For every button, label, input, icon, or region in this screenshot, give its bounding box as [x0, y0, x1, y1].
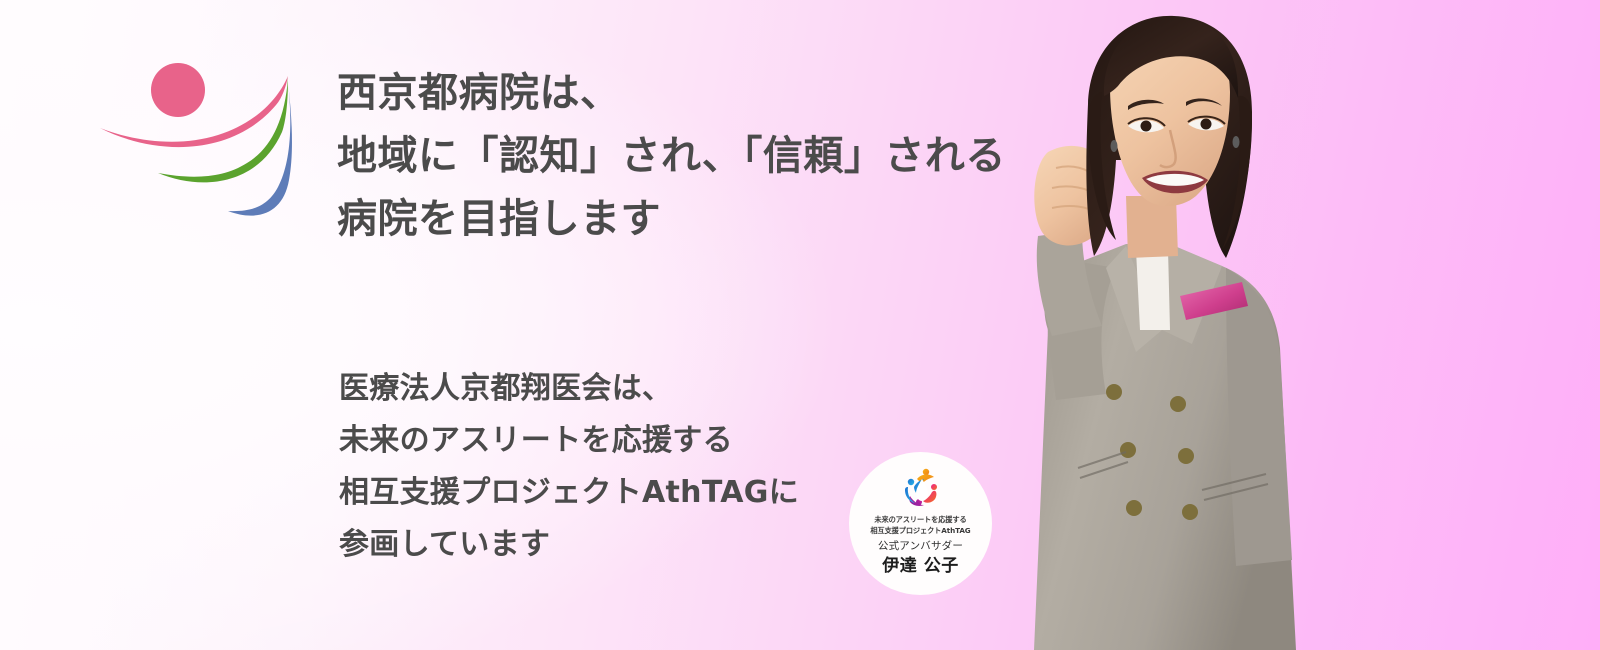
jacket-body: [1034, 244, 1296, 650]
logo-blue-swoosh: [228, 82, 292, 216]
logo-head-circle: [151, 63, 205, 117]
headline-line-2: 地域に「認知」され、「信頼」される: [337, 125, 1037, 188]
jacket-forearm-raised: [1037, 230, 1102, 336]
jacket-sleeve-right: [1226, 268, 1292, 566]
jacket-lapel-right: [1162, 244, 1222, 344]
hospital-logo-icon: [100, 52, 315, 252]
hero-banner: 西京都病院は、 地域に「認知」され、「信頼」される 病院を目指します 医療法人京…: [0, 0, 1600, 650]
nose: [1160, 130, 1176, 167]
headline-line-3: 病院を目指します: [337, 188, 1037, 251]
hair-back: [1086, 16, 1252, 258]
badge-person-name: 伊達 公子: [882, 556, 958, 576]
jacket-lapel-left: [1106, 246, 1162, 352]
jacket-buttons: [1106, 384, 1198, 520]
body-copy-line-1: 医療法人京都翔医会は、: [339, 363, 899, 415]
hair-side-left: [1088, 92, 1116, 240]
pocket-square: [1180, 282, 1248, 320]
hair-side-right: [1222, 96, 1252, 250]
body-copy-line-3: 相互支援プロジェクトAthTAGに: [339, 467, 899, 519]
badge-role: 公式アンバサダー: [878, 536, 963, 556]
mouth: [1142, 171, 1208, 194]
badge-sub-line-1: 未来のアスリートを応援する: [874, 514, 966, 525]
badge-sub-line-2: 相互支援プロジェクトAthTAG: [870, 525, 970, 536]
jacket-sleeve-left: [1048, 262, 1116, 400]
earrings: [1111, 136, 1240, 152]
page-title: 西京都病院は、 地域に「認知」され、「信頼」される 病院を目指します: [337, 62, 1037, 251]
shirt: [1136, 248, 1170, 330]
athtag-logo-icon: [901, 465, 941, 509]
jacket-pockets: [1078, 452, 1268, 500]
ambassador-badge[interactable]: 未来のアスリートを応援する 相互支援プロジェクトAthTAG 公式アンバサダー …: [849, 452, 992, 595]
headline-line-1: 西京都病院は、: [337, 62, 1037, 125]
jacket: [1034, 230, 1296, 650]
face: [1110, 28, 1230, 206]
body-copy-line-4: 参画しています: [339, 519, 899, 571]
eyebrows: [1128, 99, 1222, 110]
neck: [1126, 196, 1178, 258]
raised-fist: [1034, 146, 1111, 246]
hair-front: [1104, 18, 1238, 98]
eyes: [1128, 117, 1225, 133]
body-copy-line-2: 未来のアスリートを応援する: [339, 415, 899, 467]
body-copy: 医療法人京都翔医会は、 未来のアスリートを応援する 相互支援プロジェクトAthT…: [339, 363, 899, 571]
